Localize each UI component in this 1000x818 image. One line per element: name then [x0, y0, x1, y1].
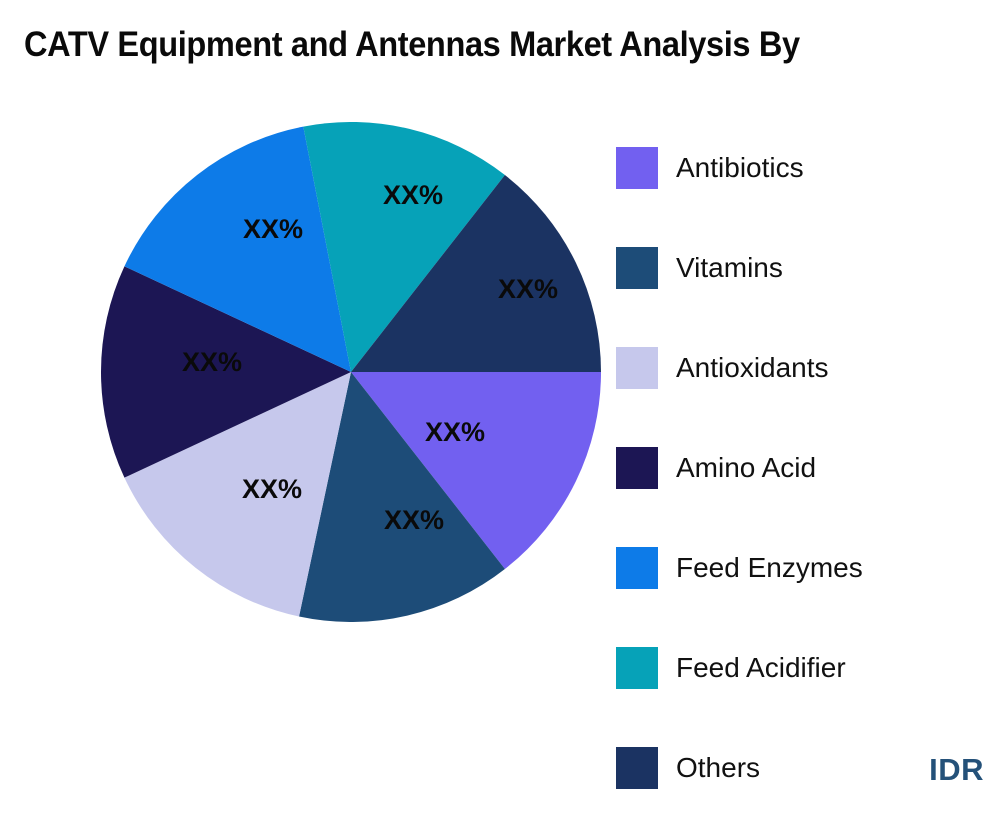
pie-slice-label: XX%: [384, 505, 444, 535]
pie-slice-label: XX%: [425, 417, 485, 447]
legend-item-label: Feed Enzymes: [676, 552, 863, 584]
legend-item[interactable]: Feed Acidifier: [616, 618, 996, 718]
chart-page: CATV Equipment and Antennas Market Analy…: [0, 0, 1000, 800]
pie-slice-group: [101, 122, 601, 622]
legend-item[interactable]: Vitamins: [616, 218, 996, 318]
pie-chart-svg: XX%XX%XX%XX%XX%XX%XX%: [101, 122, 601, 622]
legend-color-swatch: [616, 347, 658, 389]
legend-item-label: Antioxidants: [676, 352, 829, 384]
legend-item-label: Vitamins: [676, 252, 783, 284]
legend-item-label: Amino Acid: [676, 452, 816, 484]
idr-logo: IDR: [929, 752, 984, 788]
legend-item[interactable]: Antioxidants: [616, 318, 996, 418]
legend-item[interactable]: Antibiotics: [616, 118, 996, 218]
legend-item[interactable]: Feed Enzymes: [616, 518, 996, 618]
legend-color-swatch: [616, 147, 658, 189]
legend-color-swatch: [616, 447, 658, 489]
pie-slice-label: XX%: [383, 180, 443, 210]
legend-color-swatch: [616, 247, 658, 289]
legend-color-swatch: [616, 547, 658, 589]
legend-item-label: Others: [676, 752, 760, 784]
legend-color-swatch: [616, 747, 658, 789]
pie-slice-label: XX%: [498, 274, 558, 304]
legend-item[interactable]: Amino Acid: [616, 418, 996, 518]
legend-item-label: Feed Acidifier: [676, 652, 846, 684]
legend-item-label: Antibiotics: [676, 152, 804, 184]
legend-color-swatch: [616, 647, 658, 689]
pie-chart: XX%XX%XX%XX%XX%XX%XX%: [101, 122, 601, 622]
page-title: CATV Equipment and Antennas Market Analy…: [24, 22, 1000, 68]
pie-slice-label: XX%: [242, 474, 302, 504]
pie-slice-label: XX%: [182, 347, 242, 377]
chart-legend: AntibioticsVitaminsAntioxidantsAmino Aci…: [616, 118, 996, 818]
pie-slice-label: XX%: [243, 214, 303, 244]
